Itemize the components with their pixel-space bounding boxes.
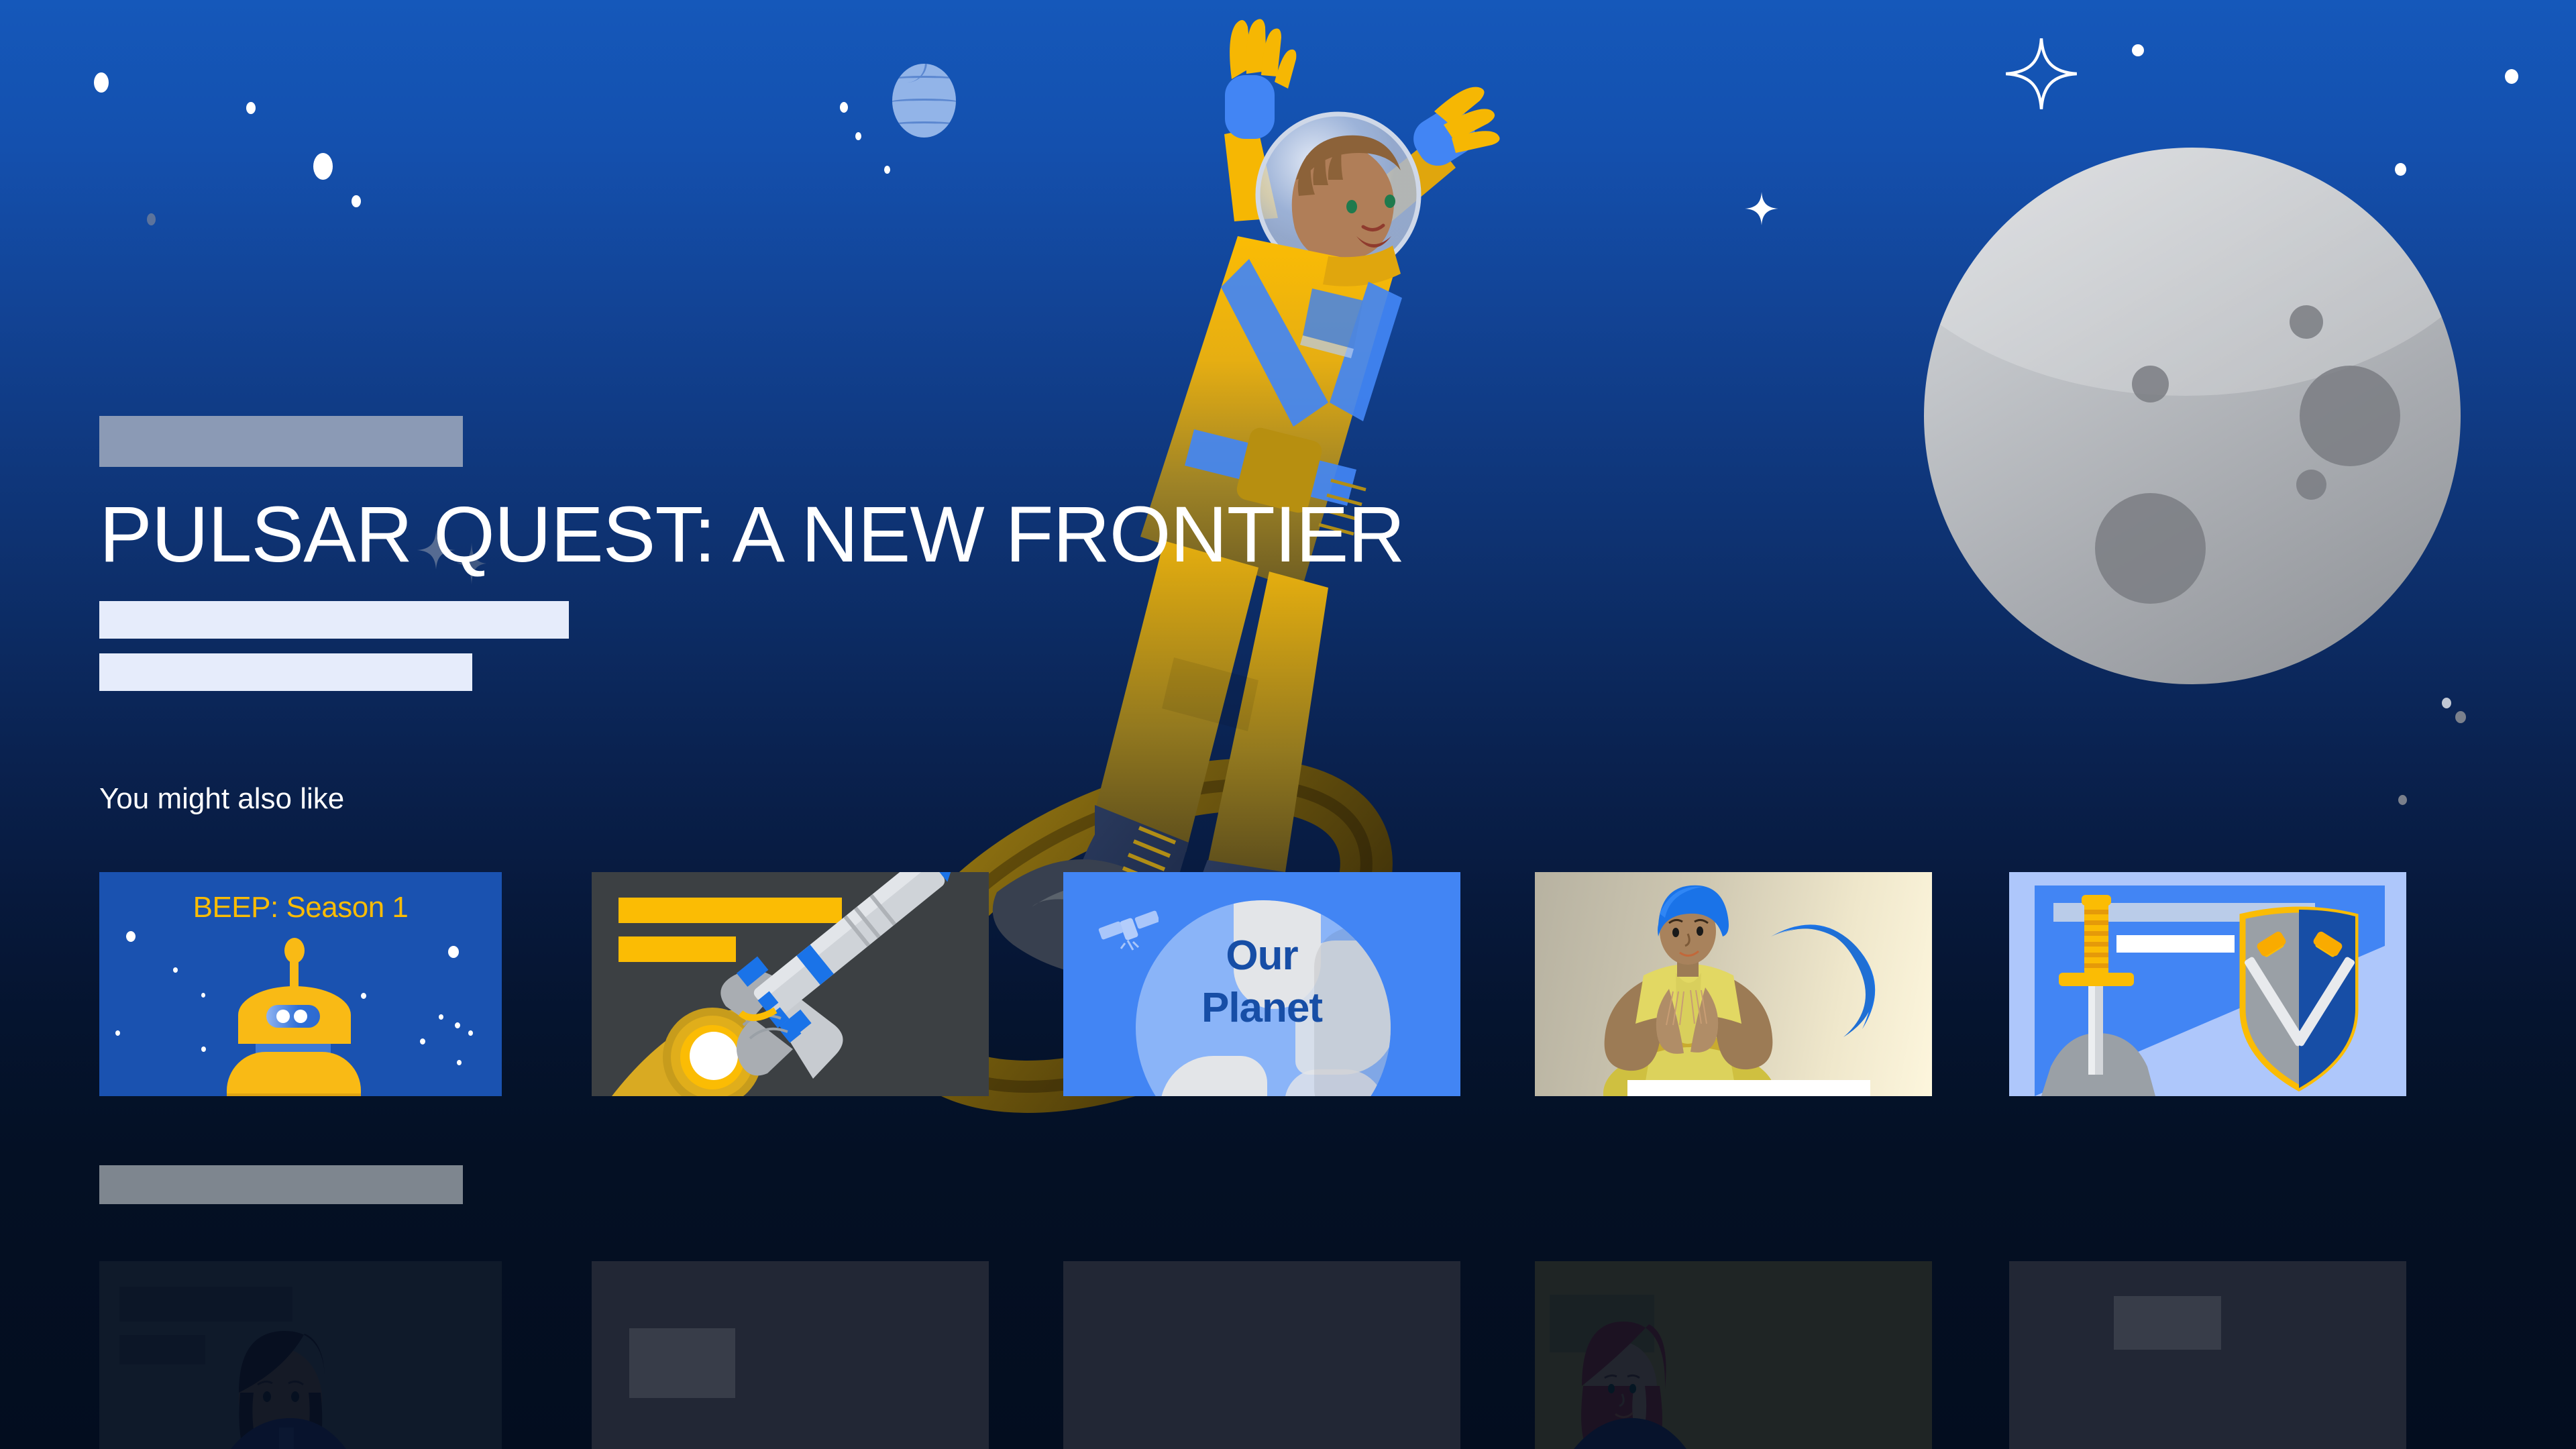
page-root: PULSAR QUEST: A NEW FRONTIER You might a… (0, 0, 2576, 1449)
card-row2-5[interactable] (2009, 1261, 2406, 1449)
earth-landmass (1160, 1056, 1267, 1096)
hero-line-skeleton-2 (99, 653, 472, 691)
robot-antenna-icon (290, 958, 299, 990)
card-row2-2[interactable] (592, 1261, 989, 1449)
star-icon (840, 102, 848, 113)
star-icon (246, 102, 256, 114)
card-title: BEEP: Season 1 (99, 891, 502, 924)
star-icon (352, 195, 361, 207)
star-icon (457, 1060, 462, 1065)
star-icon (115, 1030, 120, 1036)
card-title-line-1: Our (1063, 934, 1460, 979)
moon-graphic (1924, 148, 2461, 684)
robot-body-stripe (227, 1093, 361, 1096)
sword-and-shield-icon (2009, 872, 2406, 1096)
rocket-icon (592, 872, 989, 1096)
card-dim-overlay (1535, 1261, 1932, 1449)
hero-text-block: PULSAR QUEST: A NEW FRONTIER (99, 416, 1405, 691)
star-icon (147, 213, 156, 225)
star-icon (2132, 44, 2144, 56)
star-icon (2505, 69, 2518, 84)
card-dim-overlay (99, 1261, 502, 1449)
star-icon (439, 1014, 443, 1020)
sparkle-icon (1744, 191, 1779, 226)
card-title-line-2: Planet (1063, 986, 1460, 1031)
star-icon (201, 993, 205, 998)
star-icon (2455, 711, 2466, 723)
card-our-planet[interactable]: Our Planet (1063, 872, 1460, 1096)
card-row2-4[interactable] (1535, 1261, 1932, 1449)
star-icon (173, 967, 178, 973)
star-icon (420, 1038, 425, 1044)
sparkle-icon (2004, 37, 2078, 111)
star-icon (2398, 795, 2407, 805)
star-icon (448, 946, 459, 958)
robot-body-icon (227, 1052, 361, 1096)
hero-line-skeleton-1 (99, 601, 569, 639)
star-icon (455, 1022, 460, 1028)
star-icon (313, 153, 333, 180)
star-icon (361, 993, 366, 999)
card-skeleton-bar (1627, 1080, 1870, 1096)
card-rocket[interactable] (592, 872, 989, 1096)
robot-eye-icon (276, 1010, 290, 1023)
hero-badge-skeleton (99, 416, 463, 467)
person-meditating-icon (1535, 872, 1932, 1096)
card-meditation[interactable] (1535, 872, 1932, 1096)
section-heading-you-might-also-like: You might also like (99, 782, 344, 816)
robot-visor-icon (266, 1005, 320, 1028)
star-icon (2442, 698, 2451, 708)
star-icon (201, 1046, 206, 1052)
card-sword-shield[interactable] (2009, 872, 2406, 1096)
star-icon (94, 72, 109, 93)
robot-eye-icon (294, 1010, 307, 1023)
star-icon (126, 931, 136, 942)
page-title: PULSAR QUEST: A NEW FRONTIER (99, 494, 1405, 577)
card-row2-3[interactable] (1063, 1261, 1460, 1449)
card-skeleton-bar (2114, 1296, 2221, 1350)
section-heading-skeleton (99, 1165, 463, 1204)
card-beep-season-1[interactable]: BEEP: Season 1 (99, 872, 502, 1096)
card-row2-1[interactable] (99, 1261, 502, 1449)
card-skeleton-bar (629, 1328, 735, 1398)
star-icon (468, 1030, 473, 1036)
